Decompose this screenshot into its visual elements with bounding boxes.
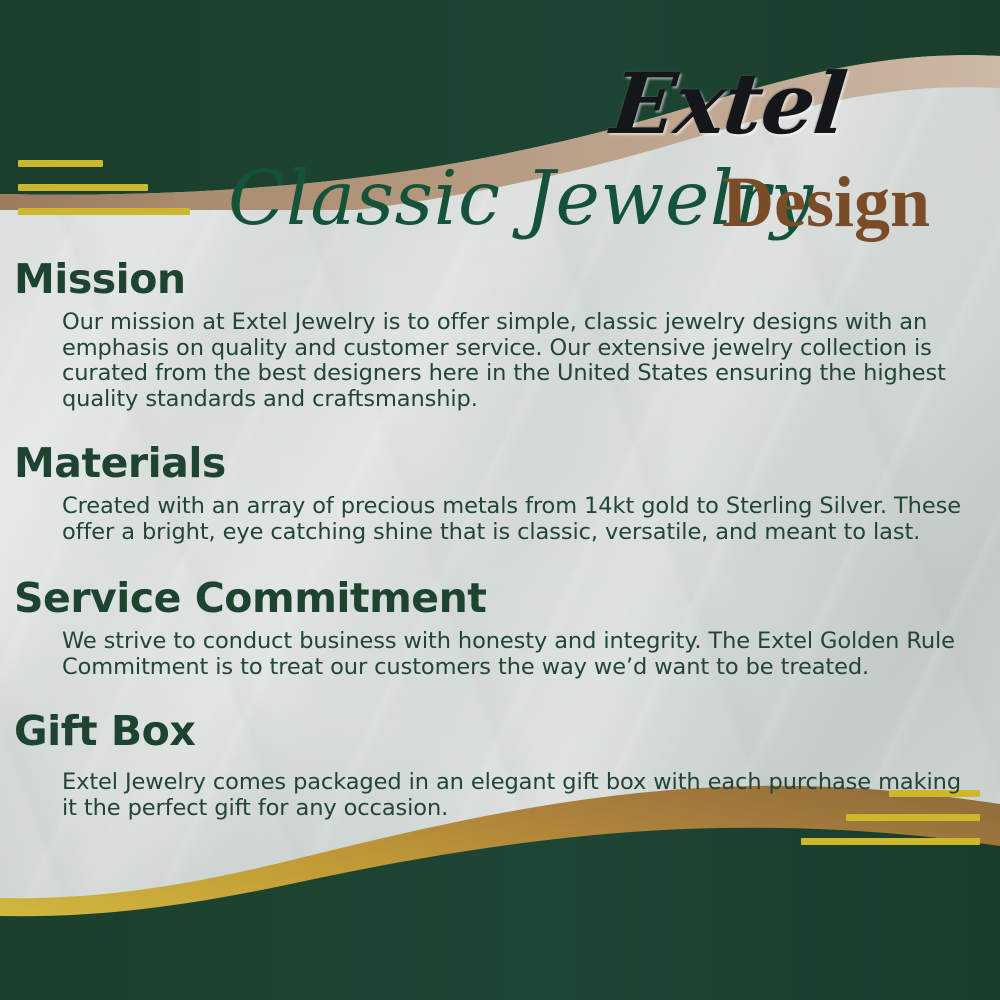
- section-heading-service-commitment: Service Commitment: [0, 571, 1000, 625]
- sections-container: Mission Our mission at Extel Jewelry is …: [0, 252, 1000, 823]
- section-service-commitment: Service Commitment We strive to conduct …: [0, 571, 1000, 680]
- poster-canvas: Extel Classic Jewelry Design Mission Our…: [0, 0, 1000, 1000]
- section-body-service-commitment: We strive to conduct business with hones…: [0, 629, 1000, 680]
- section-materials: Materials Created with an array of preci…: [0, 436, 1000, 545]
- decorative-rule-line: [801, 838, 980, 845]
- section-gift-box: Gift Box Extel Jewelry comes packaged in…: [0, 704, 1000, 821]
- section-heading-mission: Mission: [0, 252, 1000, 306]
- section-mission: Mission Our mission at Extel Jewelry is …: [0, 252, 1000, 412]
- title-secondary-text: Design: [722, 156, 930, 248]
- section-heading-gift-box: Gift Box: [0, 704, 1000, 758]
- brand-script-logo: Extel: [608, 62, 957, 146]
- section-heading-materials: Materials: [0, 436, 1000, 490]
- section-body-materials: Created with an array of precious metals…: [0, 494, 1000, 545]
- section-body-gift-box: Extel Jewelry comes packaged in an elega…: [0, 770, 1000, 821]
- section-body-mission: Our mission at Extel Jewelry is to offer…: [0, 310, 1000, 412]
- poster-title: Classic Jewelry Design: [0, 148, 1000, 254]
